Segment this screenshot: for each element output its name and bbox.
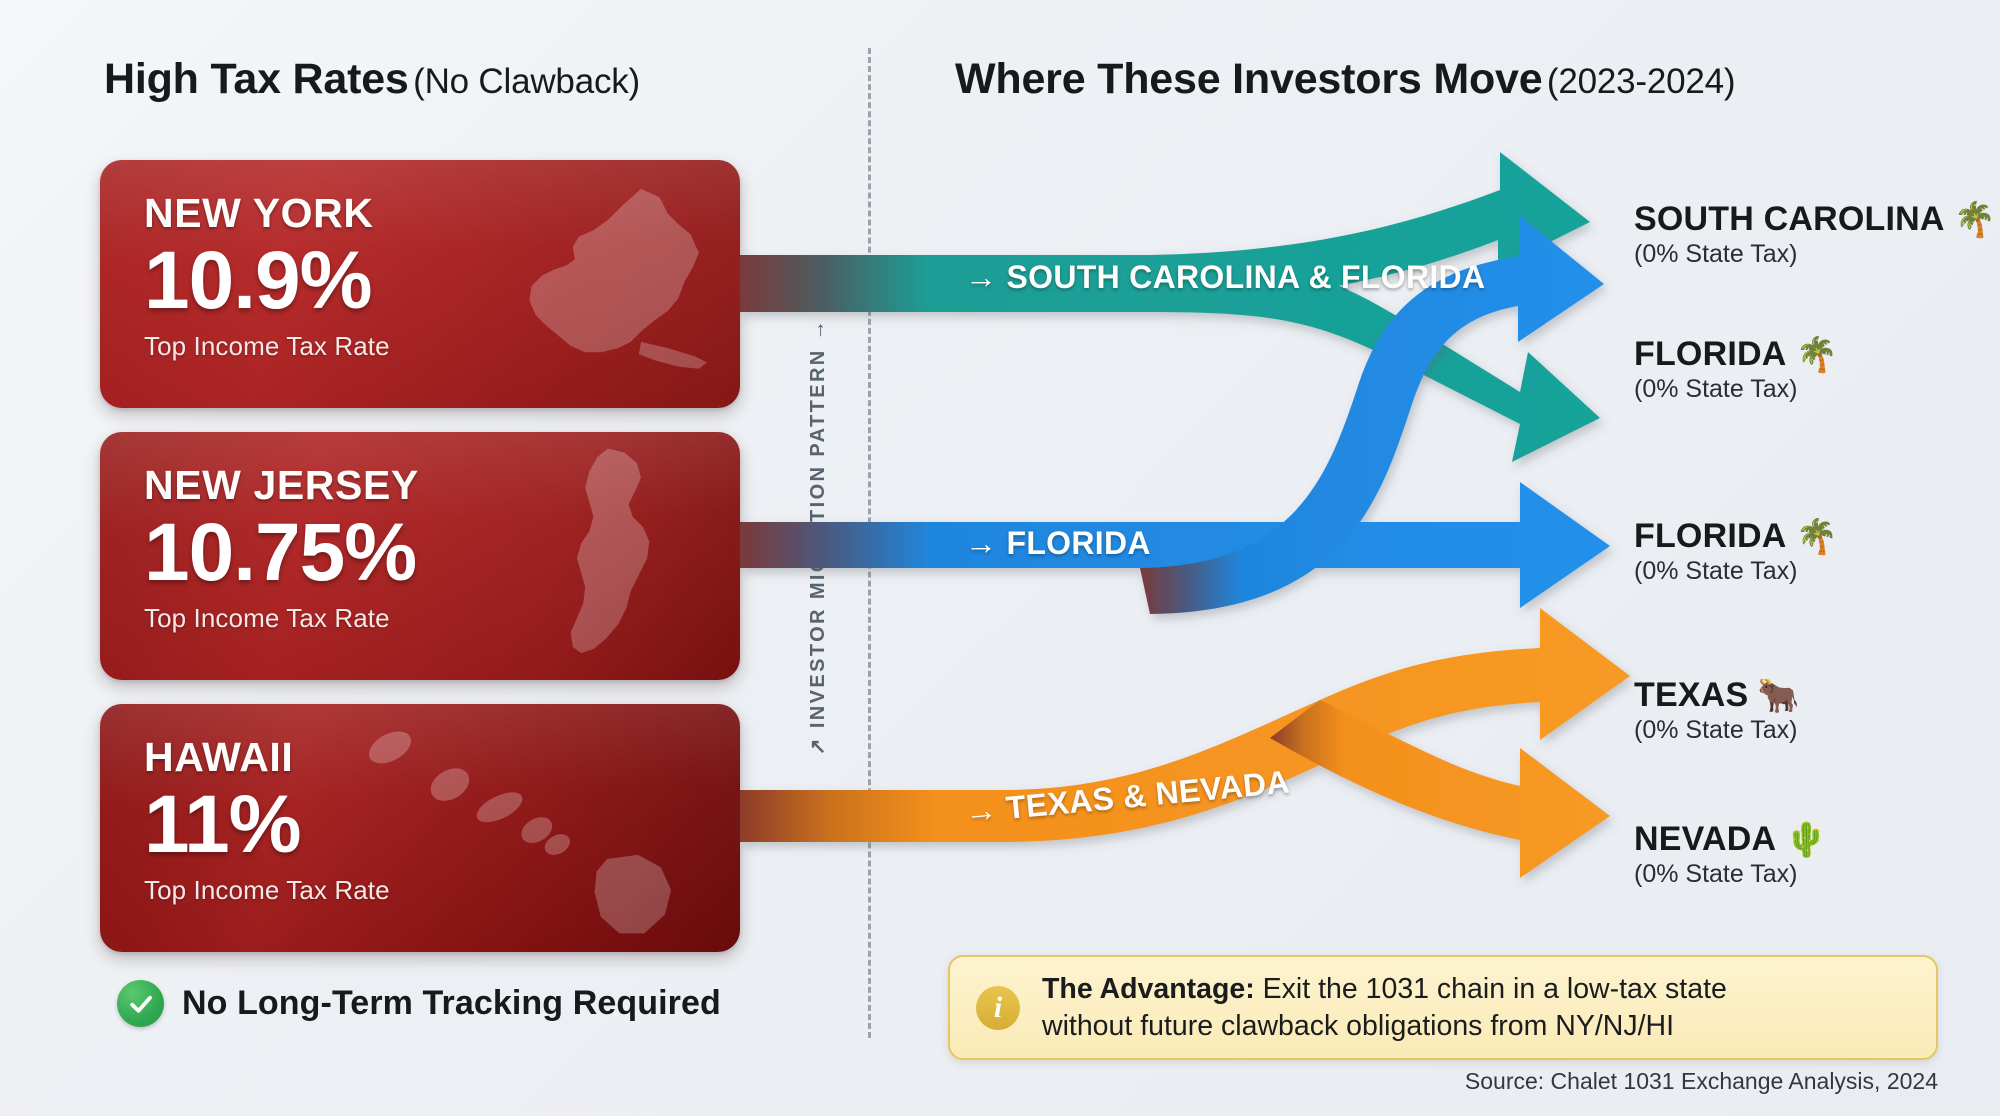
- destination-tax: (0% State Tax): [1634, 240, 1996, 269]
- state-rate-caption: Top Income Tax Rate: [144, 331, 390, 362]
- destination-name: SOUTH CAROLINA: [1634, 200, 1945, 239]
- longhorn-icon: 🐂: [1757, 679, 1800, 713]
- no-tracking-badge: No Long-Term Tracking Required: [117, 980, 721, 1027]
- check-circle-icon: [117, 980, 164, 1027]
- palm-tree-icon: 🌴: [1796, 520, 1839, 554]
- flow-label-new-york: → SOUTH CAROLINA & FLORIDA: [965, 259, 1485, 296]
- advantage-callout: i The Advantage: Exit the 1031 chain in …: [948, 955, 1938, 1060]
- state-name: NEW JERSEY: [144, 462, 419, 509]
- destination-tax: (0% State Tax): [1634, 716, 1800, 745]
- state-name: HAWAII: [144, 734, 390, 781]
- flow-label-new-jersey: → FLORIDA: [965, 525, 1151, 562]
- advantage-line-2: without future clawback obligations from…: [1042, 1008, 1727, 1044]
- destination-florida-from-nj[interactable]: FLORIDA 🌴 (0% State Tax): [1634, 517, 1838, 586]
- advantage-label: The Advantage:: [1042, 973, 1255, 1005]
- no-tracking-text: No Long-Term Tracking Required: [182, 984, 721, 1023]
- destination-south-carolina[interactable]: SOUTH CAROLINA 🌴 (0% State Tax): [1634, 200, 1996, 269]
- state-rate-caption: Top Income Tax Rate: [144, 875, 390, 906]
- state-tax-rate: 10.75%: [144, 513, 419, 593]
- state-tax-rate: 11%: [144, 785, 390, 865]
- infographic-canvas: High Tax Rates (No Clawback) Where These…: [0, 0, 2000, 1116]
- state-name: NEW YORK: [144, 190, 390, 237]
- destination-tax: (0% State Tax): [1634, 557, 1838, 586]
- destination-florida-from-ny[interactable]: FLORIDA 🌴 (0% State Tax): [1634, 335, 1838, 404]
- advantage-line-1: Exit the 1031 chain in a low-tax state: [1255, 973, 1727, 1005]
- destination-name: FLORIDA: [1634, 335, 1787, 374]
- palm-tree-icon: 🌴: [1796, 338, 1839, 372]
- info-circle-icon: i: [976, 986, 1020, 1030]
- flow-hawaii: [740, 608, 1630, 878]
- palmetto-tree-icon: 🌴: [1954, 203, 1997, 237]
- state-tax-rate: 10.9%: [144, 241, 390, 321]
- destination-tax: (0% State Tax): [1634, 375, 1838, 404]
- state-rate-caption: Top Income Tax Rate: [144, 603, 419, 634]
- destination-name: TEXAS: [1634, 676, 1748, 715]
- destination-name: NEVADA: [1634, 820, 1776, 859]
- destination-texas[interactable]: TEXAS 🐂 (0% State Tax): [1634, 676, 1800, 745]
- source-note: Source: Chalet 1031 Exchange Analysis, 2…: [1465, 1068, 1938, 1095]
- destination-name: FLORIDA: [1634, 517, 1787, 556]
- cactus-icon: 🌵: [1785, 823, 1828, 857]
- destination-nevada[interactable]: NEVADA 🌵 (0% State Tax): [1634, 820, 1828, 889]
- destination-tax: (0% State Tax): [1634, 860, 1828, 889]
- advantage-text: The Advantage: Exit the 1031 chain in a …: [1042, 971, 1727, 1044]
